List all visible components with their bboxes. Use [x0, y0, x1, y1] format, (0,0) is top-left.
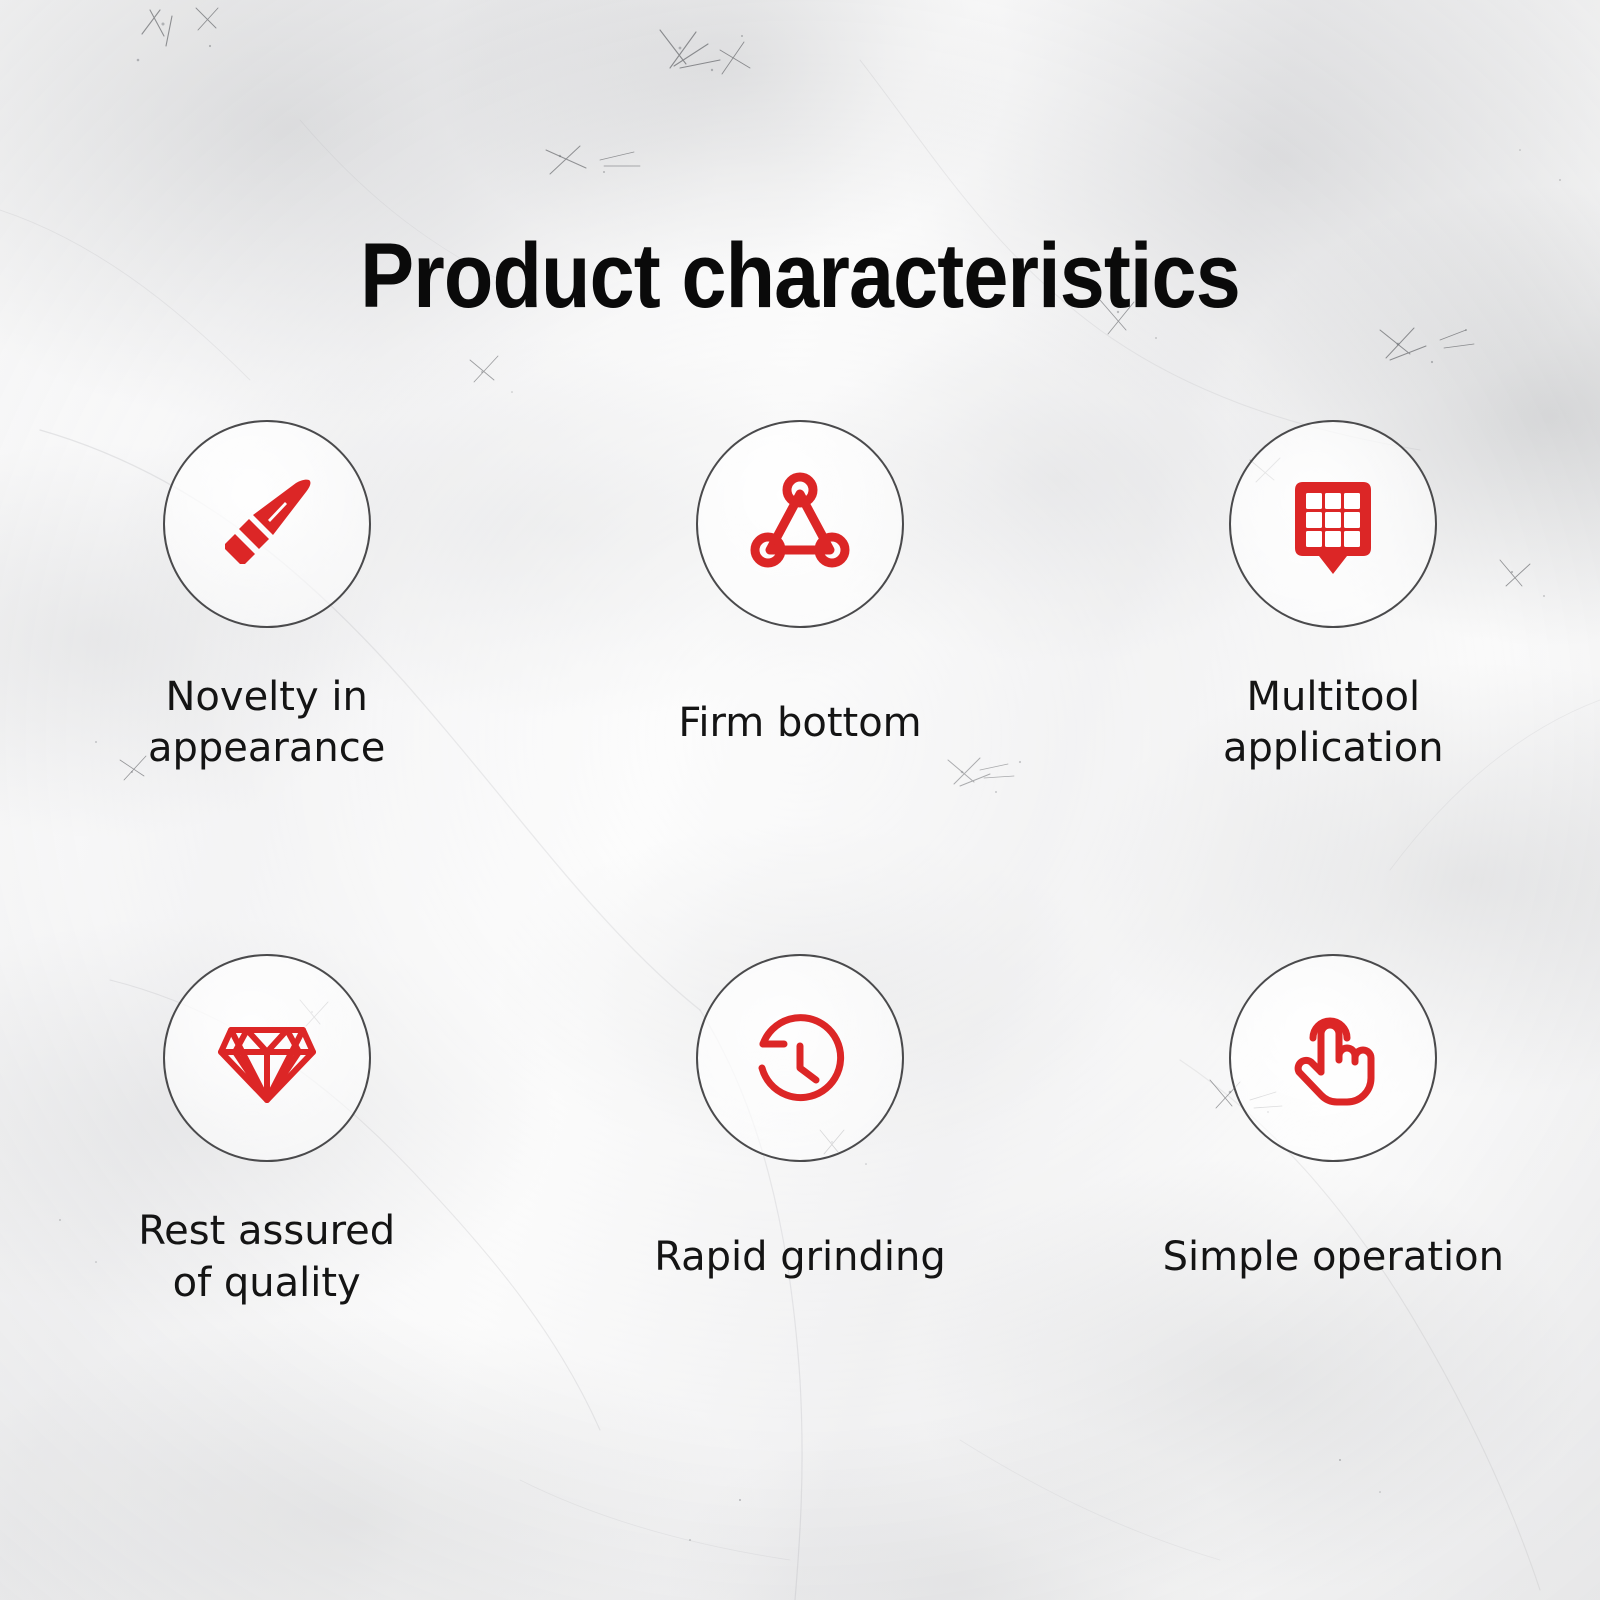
hand-tap-icon	[1273, 998, 1393, 1118]
feature-label: Firm bottom	[678, 698, 921, 749]
feature-simple-operation[interactable]: Simple operation	[1067, 954, 1600, 1308]
icon-circle	[696, 420, 904, 628]
icon-circle	[1229, 420, 1437, 628]
feature-rest-assured-of-quality[interactable]: Rest assured of quality	[0, 954, 533, 1308]
knife-icon	[207, 464, 327, 584]
feature-multitool-application[interactable]: Multitool application	[1067, 420, 1600, 774]
feature-firm-bottom[interactable]: Firm bottom	[533, 420, 1066, 774]
feature-rapid-grinding[interactable]: Rapid grinding	[533, 954, 1066, 1308]
feature-label: Rest assured of quality	[138, 1206, 395, 1308]
feature-label: Simple operation	[1163, 1232, 1504, 1283]
diamond-icon	[207, 998, 327, 1118]
feature-label: Multitool application	[1223, 672, 1444, 774]
page-title: Product characteristics	[96, 230, 1504, 322]
icon-circle	[163, 420, 371, 628]
grid-bubble-icon	[1273, 464, 1393, 584]
triangle-nodes-icon	[740, 464, 860, 584]
feature-label: Rapid grinding	[654, 1232, 946, 1283]
icon-circle	[696, 954, 904, 1162]
clock-icon	[740, 998, 860, 1118]
features-row-top: Novelty in appearance Fir	[0, 420, 1600, 774]
icon-circle	[1229, 954, 1437, 1162]
feature-label: Novelty in appearance	[148, 672, 385, 774]
product-characteristics-infographic: Product characteristics Novelty in appea…	[0, 0, 1600, 1600]
feature-novelty-in-appearance[interactable]: Novelty in appearance	[0, 420, 533, 774]
features-row-bottom: Rest assured of quality Rapid grinding	[0, 954, 1600, 1308]
features-grid: Novelty in appearance Fir	[0, 420, 1600, 1309]
icon-circle	[163, 954, 371, 1162]
